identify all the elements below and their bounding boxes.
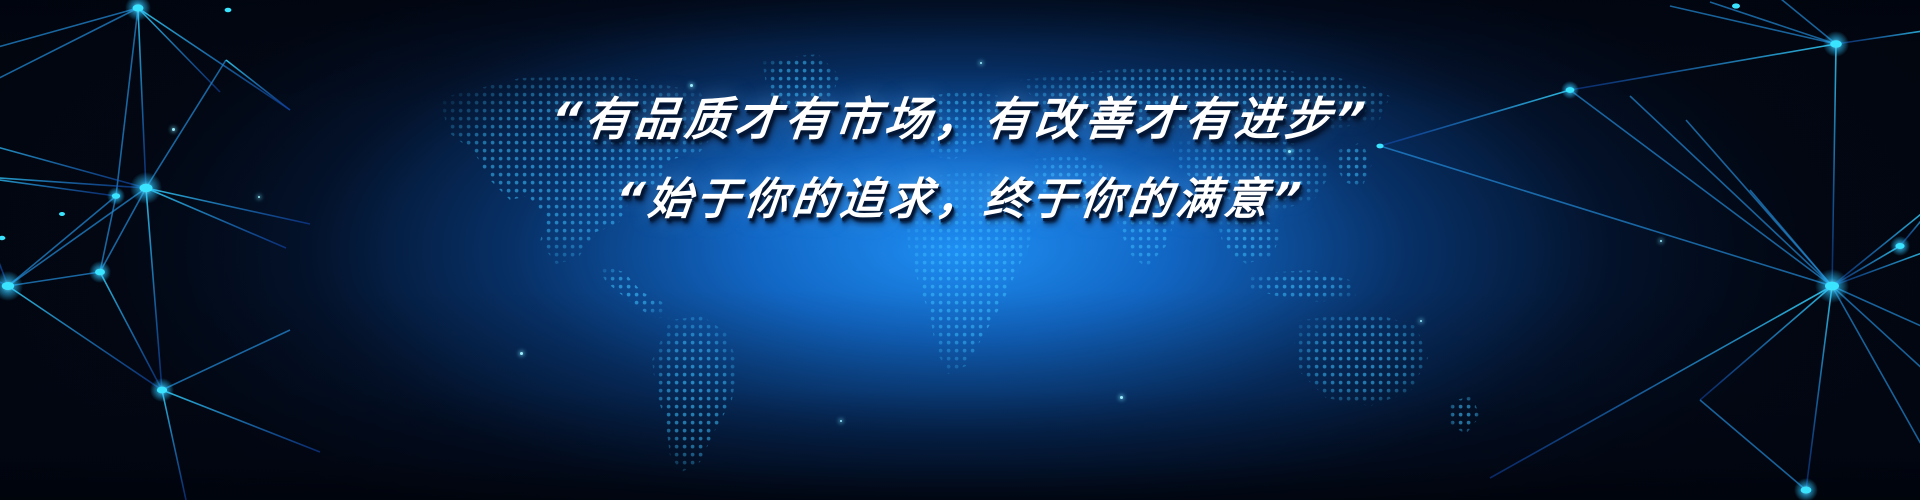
sparkle-particle xyxy=(1120,396,1123,399)
headline-line-2: “始于你的追求，终于你的满意” xyxy=(0,178,1920,222)
headline-line-1: “有品质才有市场，有改善才有进步” xyxy=(0,96,1920,142)
hero-banner: “有品质才有市场，有改善才有进步” “始于你的追求，终于你的满意” xyxy=(0,0,1920,500)
headline-block: “有品质才有市场，有改善才有进步” “始于你的追求，终于你的满意” xyxy=(0,96,1920,222)
sparkle-particle xyxy=(980,62,982,64)
sparkle-particle xyxy=(1660,240,1662,242)
sparkle-particle xyxy=(690,84,693,87)
sparkle-particle xyxy=(1420,320,1422,322)
sparkle-particle xyxy=(520,352,523,355)
network-constellation-right xyxy=(1370,0,1920,500)
network-constellation-left xyxy=(0,0,550,500)
sparkle-particle xyxy=(840,420,842,422)
